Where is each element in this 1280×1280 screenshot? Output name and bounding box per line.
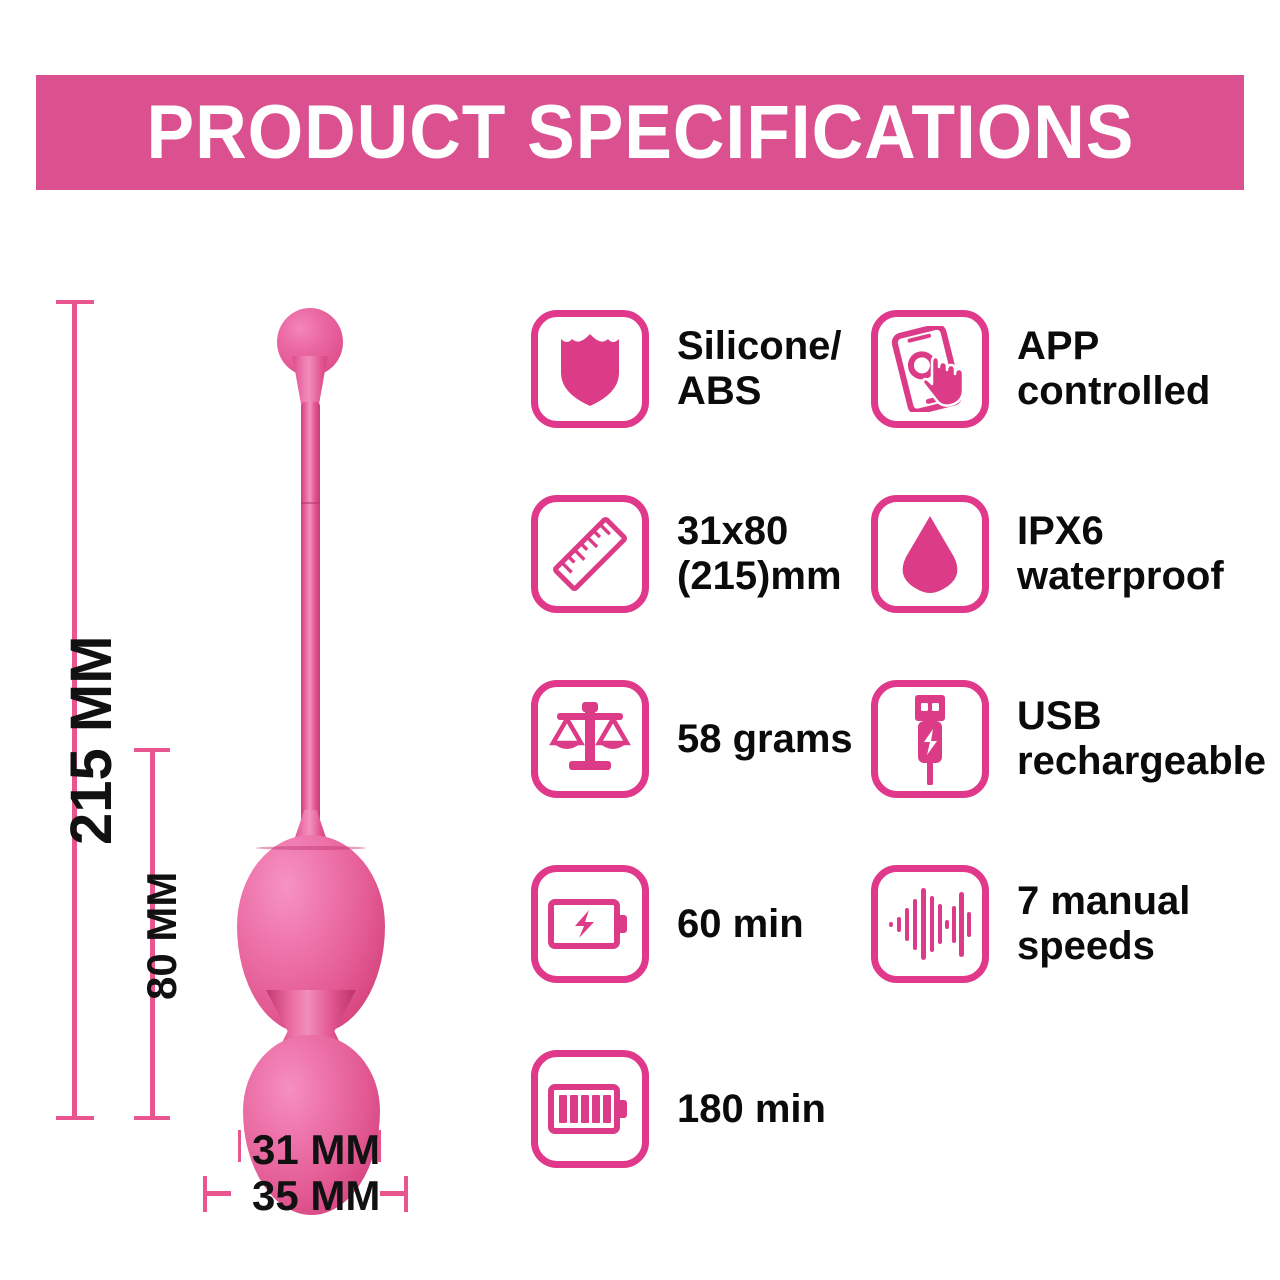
spec-icon-box [531,680,649,798]
spec-label-line: USB [1017,694,1266,739]
product-stem-seam [301,502,320,504]
sound-wave-icon [886,884,974,964]
spec-icon-box [531,495,649,613]
spec-label-runtime: 60 min [677,902,804,947]
dim-215-bottom-cap [56,1116,94,1120]
spec-label-line: controlled [1017,369,1210,414]
product-bulb-seam [256,846,366,850]
usb-plug-icon [903,693,957,785]
page-title: PRODUCT SPECIFICATIONS [146,95,1134,171]
spec-icon-box [531,1050,649,1168]
spec-item-charging[interactable]: USB rechargeable [871,680,1266,798]
spec-label-line: 7 manual [1017,879,1190,924]
battery-full-icon [548,1081,632,1137]
spec-item-app-control[interactable]: APP controlled [871,310,1210,428]
dim-31-left-tick [238,1130,241,1162]
water-droplet-icon [897,513,963,595]
spec-icon-box [531,310,649,428]
dim-35-label: 35 MM [252,1172,380,1220]
spec-label-line: waterproof [1017,554,1224,599]
spec-icon-box [871,310,989,428]
spec-label-line: APP [1017,324,1210,369]
spec-label-line: Silicone/ [677,324,842,369]
dim-35-right-arm [380,1191,408,1196]
ruler-icon [548,512,632,596]
header-banner: PRODUCT SPECIFICATIONS [36,75,1244,190]
balance-scale-icon [549,699,631,779]
dim-80-label: 80 MM [138,872,186,1000]
spec-label-app-control: APP controlled [1017,324,1210,414]
dim-31-label: 31 MM [252,1126,380,1174]
spec-label-line: speeds [1017,924,1190,969]
spec-icon-box [871,495,989,613]
spec-label-line: 58 grams [677,717,853,762]
spec-label-line: ABS [677,369,842,414]
spec-item-charge-time[interactable]: 180 min [531,1050,826,1168]
spec-icon-box [531,865,649,983]
shield-icon [553,329,627,409]
product-illustration [210,290,440,1130]
spec-label-weight: 58 grams [677,717,853,762]
spec-label-line: (215)mm [677,554,842,599]
spec-label-charge-time: 180 min [677,1087,826,1132]
dim-80-bottom-cap [134,1116,170,1120]
product-stem [301,402,320,834]
spec-icon-box [871,865,989,983]
spec-item-material[interactable]: Silicone/ ABS [531,310,842,428]
spec-label-line: rechargeable [1017,739,1266,784]
dim-215-label: 215 MM [58,635,125,845]
spec-item-speeds[interactable]: 7 manual speeds [871,865,1190,983]
spec-label-size: 31x80 (215)mm [677,509,842,599]
spec-item-size[interactable]: 31x80 (215)mm [531,495,842,613]
battery-charging-icon [548,896,632,952]
spec-label-speeds: 7 manual speeds [1017,879,1190,969]
phone-touch-icon [888,326,972,412]
spec-label-line: 60 min [677,902,804,947]
spec-item-waterproof[interactable]: IPX6 waterproof [871,495,1224,613]
spec-label-line: IPX6 [1017,509,1224,554]
spec-item-weight[interactable]: 58 grams [531,680,853,798]
spec-label-line: 31x80 [677,509,842,554]
spec-item-runtime[interactable]: 60 min [531,865,804,983]
spec-label-charging: USB rechargeable [1017,694,1266,784]
spec-label-waterproof: IPX6 waterproof [1017,509,1224,599]
spec-label-material: Silicone/ ABS [677,324,842,414]
product-specifications-page: PRODUCT SPECIFICATIONS 215 MM 80 MM 31 M… [0,0,1280,1280]
dim-35-left-arm [203,1191,231,1196]
spec-label-line: 180 min [677,1087,826,1132]
spec-icon-box [871,680,989,798]
